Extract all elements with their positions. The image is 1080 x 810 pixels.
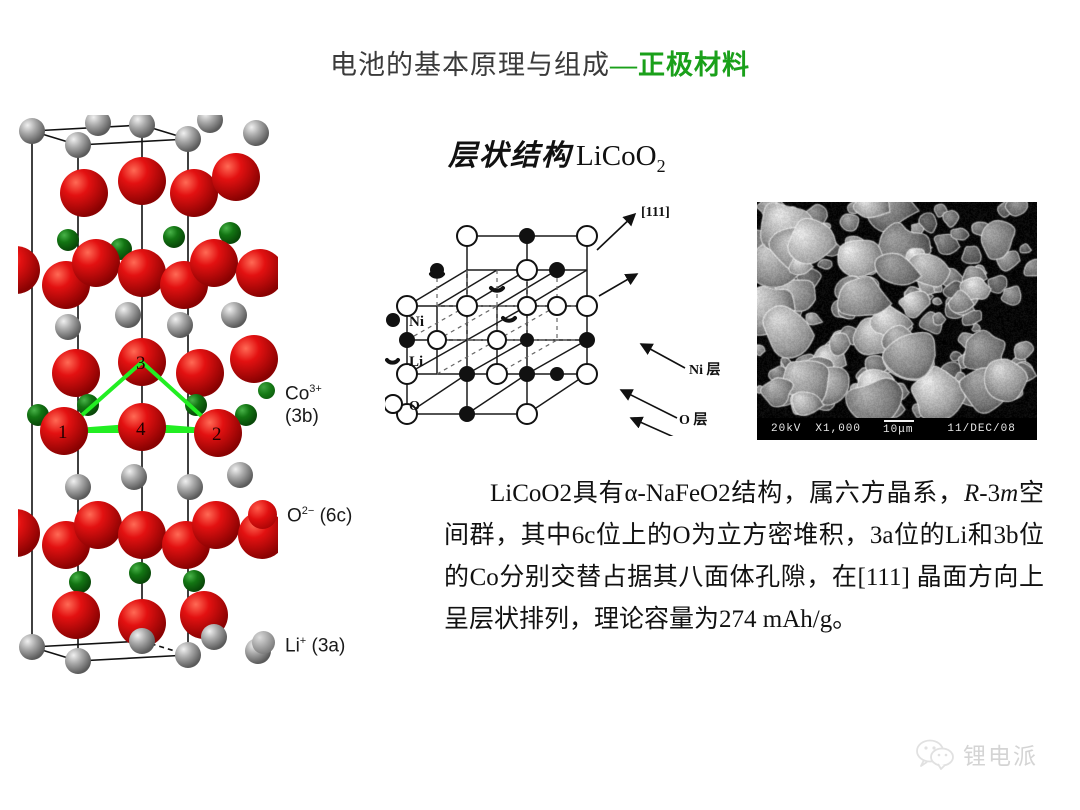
annotation-label-direction: [111]	[641, 205, 670, 220]
sem-info-bar: 20kV X1,000 10μm 11/DEC/08	[757, 418, 1037, 440]
li-atom-layer-3	[65, 462, 253, 500]
annotation-arrows	[599, 274, 685, 436]
legend-label-cobalt: Co3+(3b)	[285, 378, 322, 428]
lithium-site: (3a)	[312, 635, 346, 656]
atom-label-4: 4	[136, 419, 146, 440]
body-paragraph: LiCoO2具有α-NaFeO2结构，属六方晶系，R-3m空间群，其中6c位上的…	[444, 473, 1044, 641]
sem-date: 11/DEC/08	[947, 423, 1015, 435]
legend-item-cobalt: Co3+(3b)	[258, 378, 322, 428]
cobalt-site: (3b)	[285, 406, 319, 427]
wechat-icon	[916, 738, 956, 770]
atom-label-3: 3	[136, 353, 146, 374]
oxygen-dot-icon	[248, 500, 277, 529]
sem-scale-bar: 10μm	[883, 422, 913, 436]
o-atom-layer-5	[18, 501, 278, 569]
cobalt-dot-icon	[258, 382, 275, 399]
lithium-symbol: Li	[285, 635, 300, 656]
page-title-main: 电池的基本原理与组成	[330, 50, 610, 80]
page-title: 电池的基本原理与组成—正极材料	[0, 48, 1080, 82]
page-title-accent: —正极材料	[610, 50, 750, 80]
sem-magnification: X1,000	[815, 423, 861, 435]
li-legend-icon	[387, 360, 398, 363]
paragraph-mid: -3	[979, 480, 1000, 507]
cube-annotation-labels: [111] Ni 层 O 层 Li 层	[641, 205, 721, 436]
annotation-label-ni-layer: Ni 层	[689, 362, 721, 378]
cubic-lattice-diagram: Ni Li O [111] Ni 层 O 层 Li 层	[385, 196, 745, 436]
sem-voltage: 20kV	[771, 423, 801, 435]
paragraph-prefix: LiCoO2具有α-NaFeO2结构，属六方晶系，	[490, 480, 964, 507]
legend-label-oxygen: O2− (6c)	[287, 500, 352, 527]
lithium-charge: +	[300, 635, 306, 647]
cube-legend-label-o: O	[409, 399, 420, 414]
o-atom-layer-1	[60, 153, 260, 217]
direction-arrow	[597, 214, 635, 250]
li-atom-layer-2	[55, 302, 247, 340]
cube-legend-label-ni: Ni	[409, 314, 424, 330]
cubic-lattice-svg: Ni Li O [111] Ni 层 O 层 Li 层	[385, 196, 745, 436]
section-heading-formula-sub: 2	[657, 156, 666, 176]
cobalt-charge: 3+	[309, 383, 322, 395]
legend-item-lithium: Li+ (3a)	[252, 630, 345, 657]
paragraph-italic-m: m	[1000, 480, 1018, 507]
crystal-structure-figure: 3 1 4 2	[18, 115, 278, 675]
li-atom-layer-bottom	[19, 624, 271, 674]
crystal-structure-svg: 3 1 4 2	[18, 115, 278, 675]
o-atom-layer-3	[52, 335, 278, 397]
atom-label-2: 2	[212, 424, 222, 445]
atom-label-1: 1	[58, 422, 68, 443]
section-heading-licoo2: 层状结构LiCoO2	[448, 137, 666, 185]
section-heading-cn: 层状结构	[448, 140, 576, 172]
sem-micrograph-image	[757, 202, 1037, 440]
watermark: 锂电派	[916, 737, 1038, 771]
legend-item-oxygen: O2− (6c)	[252, 500, 352, 529]
unit-cell-edges	[32, 125, 188, 661]
section-heading-formula: LiCoO	[576, 140, 657, 172]
legend-label-lithium: Li+ (3a)	[285, 630, 345, 657]
annotation-label-o-layer: O 层	[679, 412, 707, 428]
oxygen-symbol: O	[287, 505, 302, 526]
lithium-dot-icon	[252, 631, 275, 654]
watermark-label: 锂电派	[963, 737, 1038, 771]
o-atom-layer-2	[18, 239, 278, 309]
oxygen-charge: 2−	[302, 505, 315, 517]
li-atom-layer-top	[19, 115, 269, 158]
paragraph-italic-r: R	[964, 480, 979, 507]
sem-micrograph-figure: 20kV X1,000 10μm 11/DEC/08	[757, 202, 1037, 440]
ni-legend-icon	[386, 313, 400, 327]
oxygen-site: (6c)	[320, 505, 353, 526]
cube-legend-label-li: Li	[409, 354, 423, 370]
cobalt-symbol: Co	[285, 383, 309, 404]
o-legend-icon	[385, 395, 402, 413]
